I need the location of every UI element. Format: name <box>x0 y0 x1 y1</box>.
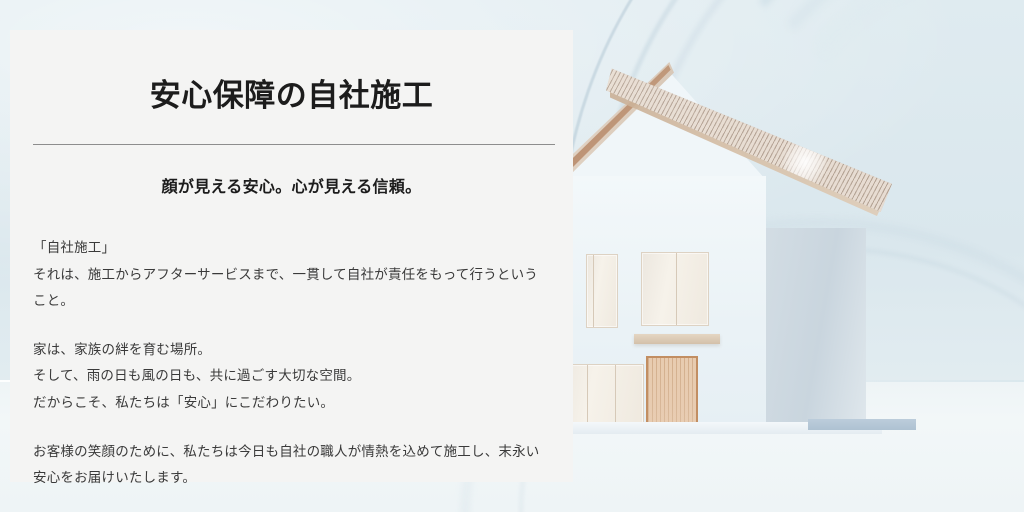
house-window-upper-wide <box>641 252 709 326</box>
paragraph: 「自社施工」 それは、施工からアフターサービスまで、一貫して自社が責任をもって行… <box>33 235 543 314</box>
paragraph-line: それは、施工からアフターサービスまで、一貫して自社が責任をもって行うという <box>33 262 543 288</box>
house-door-awning <box>634 334 720 344</box>
page-title: 安心保障の自社施工 <box>10 30 573 115</box>
paragraph-line: 「自社施工」 <box>33 235 543 261</box>
content-card: 安心保障の自社施工 顔が見える安心。心が見える信頼。 「自社施工」 それは、施工… <box>10 30 573 482</box>
house-side-wall <box>762 228 866 428</box>
house-illustration <box>566 56 966 416</box>
paragraph-line: そして、雨の日も風の日も、共に過ごす大切な空間。 <box>33 363 543 389</box>
body-copy: 「自社施工」 それは、施工からアフターサービスまで、一貫して自社が責任をもって行… <box>10 197 573 492</box>
house-roof-highlight <box>772 126 839 197</box>
page-subtitle: 顔が見える安心。心が見える信頼。 <box>10 145 573 197</box>
paragraph-line: こと。 <box>33 288 543 314</box>
paragraph: 家は、家族の絆を育む場所。 そして、雨の日も風の日も、共に過ごす大切な空間。 だ… <box>33 337 543 416</box>
paragraph-line: 安心をお届けいたします。 <box>33 465 543 491</box>
paragraph-line: 家は、家族の絆を育む場所。 <box>33 337 543 363</box>
house-ledge <box>808 419 916 430</box>
house-window-upper-small <box>586 254 618 328</box>
page-root: 安心保障の自社施工 顔が見える安心。心が見える信頼。 「自社施工」 それは、施工… <box>0 0 1024 512</box>
paragraph-line: だからこそ、私たちは「安心」にこだわりたい。 <box>33 390 543 416</box>
paragraph: お客様の笑顔のために、私たちは今日も自社の職人が情熱を込めて施工し、末永い 安心… <box>33 439 543 492</box>
paragraph-line: お客様の笑顔のために、私たちは今日も自社の職人が情熱を込めて施工し、末永い <box>33 439 543 465</box>
